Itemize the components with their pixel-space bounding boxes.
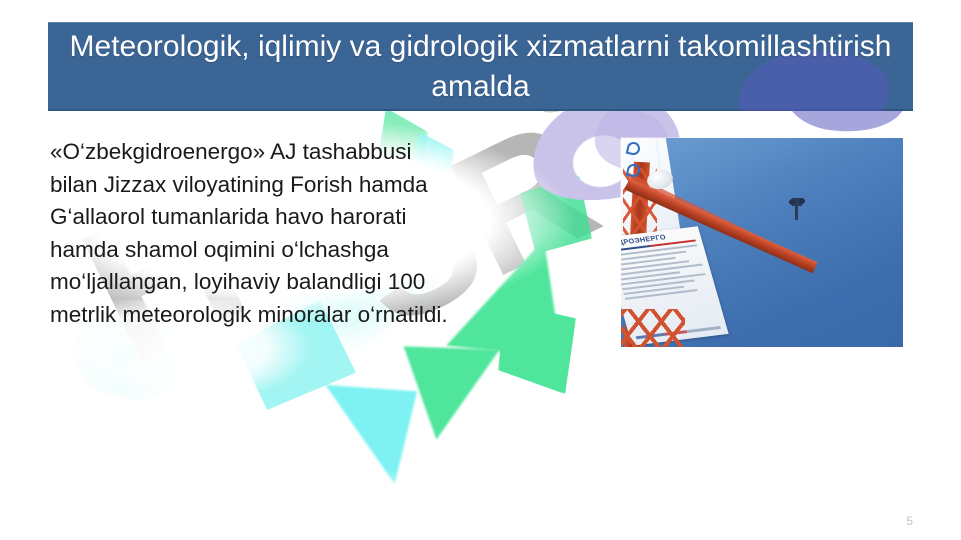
background-margin-right: [915, 112, 961, 540]
background-margin-left: [0, 0, 52, 540]
background-veil-bottom: [0, 470, 961, 540]
slide-body-text: «O‘zbekgidroenergo» AJ tashabbusi bilan …: [50, 136, 595, 332]
photo-tower-base: [621, 309, 685, 347]
slide-title-banner: Meteorologik, iqlimiy va gidrologik xizm…: [48, 22, 913, 111]
cyan-polygon-lower: [319, 385, 417, 485]
photo-logo-mark: [627, 142, 645, 182]
presentation-slide: H SR S Meteorologik, iqlimiy va gidrolog…: [0, 0, 961, 540]
anemometer-sensor-icon: [789, 198, 805, 218]
photo-logo-drop-icon: [626, 163, 641, 178]
photo-logo-drop-icon: [626, 141, 641, 156]
photo-board-text-lines: [621, 244, 710, 300]
green-polygon-lower: [400, 346, 499, 441]
slide-page-number: 5: [906, 514, 913, 528]
meteorological-tower-photo: ГИДРОЭНЕРГО: [621, 138, 903, 347]
slide-title: Meteorologik, iqlimiy va gidrologik xizm…: [48, 27, 913, 107]
